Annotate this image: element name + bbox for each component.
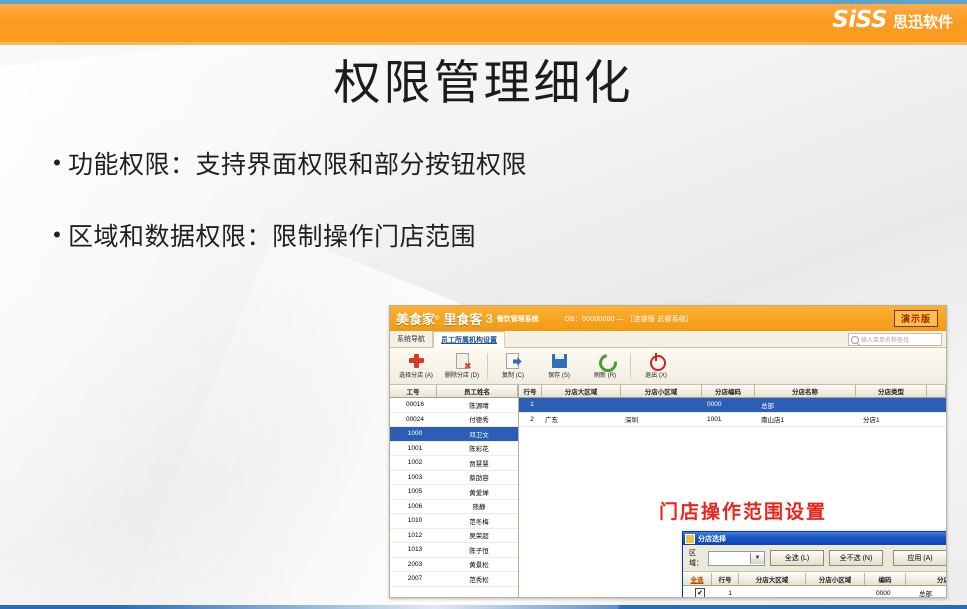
select-all-button[interactable]: 全选 (L) [770,550,824,566]
list-item: • 区域和数据权限：限制操作门店范围 [46,222,746,252]
brand-logo: SiSS 思迅软件 [832,7,953,33]
cell-checkbox[interactable]: ✔ [683,586,714,598]
column-header-big-area: 分店大区域 [739,573,806,585]
table-row[interactable]: 2广东深圳1001南山店1分店1 [519,413,946,428]
refresh-button[interactable]: 刷新 (R) [582,349,628,383]
employee-grid-header: 工号 员工姓名 [390,385,518,398]
cell-employee-name: 范冬梅 [438,514,518,528]
cell-small-area [812,586,873,598]
table-row[interactable]: 10000总部 [519,398,946,413]
column-header-spacer [927,385,946,397]
cell-code: 0000 [873,586,916,598]
table-row[interactable]: 1010范冬梅 [390,514,518,529]
delete-branch-button[interactable]: 删除分店 (D) [439,349,485,383]
page-title: 权限管理细化 [0,44,967,113]
toolbar-divider [630,353,631,379]
column-header-branch-name: 分店名称 [755,385,856,397]
table-row[interactable]: 1001陈彩花 [390,442,518,457]
cell-employee-name: 贾慧慧 [438,456,518,470]
cell-employee-id: 1005 [390,485,438,499]
cell-branch-name: 总部 [759,398,861,412]
cell-employee-name: 吴荣超 [438,529,518,543]
cell-employee-name: 陈源晴 [438,398,518,412]
cell-employee-name: 黄爱婵 [438,485,518,499]
bullet-list: • 功能权限：支持界面权限和部分按钮权限 • 区域和数据权限：限制操作门店范围 [46,150,746,294]
column-header-small-area: 分店小区域 [806,573,865,585]
slide-canvas: SiSS 思迅软件 权限管理细化 • 功能权限：支持界面权限和部分按钮权限 • … [0,0,967,609]
list-item: • 功能权限：支持界面权限和部分按钮权限 [46,150,746,180]
table-row[interactable]: 2007范秀松 [390,572,518,587]
select-none-button[interactable]: 全不选 (N) [829,550,883,566]
cell-branch-name: 总部 [916,586,946,598]
chevron-down-icon: ▼ [750,553,764,564]
cell-row-no: 1 [714,586,743,598]
cell-row-no: 2 [519,413,543,427]
table-row[interactable]: 1012吴荣超 [390,529,518,544]
row-checkbox[interactable]: ✔ [695,588,705,598]
branch-list-pane: 行号 分店大区域 分店小区域 分店编码 分店名称 分店类型 10000总部2广东… [519,385,946,598]
app-tab-bar: 系统导航 员工所属机构设置 输入菜单名称查找 [390,331,946,348]
app-toolbar: 选择分店 (A) 删除分店 (D) 复制 (C) 保存 (S) 刷新 (R) [390,348,946,385]
dialog-title-text: 分店选择 [698,534,726,544]
demo-version-badge: 演示版 [894,310,938,327]
employee-grid-rows: 00016陈源晴00024付德秀☞1000邓卫文1001陈彩花1002贾慧慧10… [390,398,518,587]
cell-employee-id: 1006 [390,500,438,514]
app-logo-main: 美食家 [396,309,435,328]
column-header-big-area: 分店大区域 [542,385,621,397]
cell-employee-id: 2003 [390,558,438,572]
cell-employee-name: 陈彩花 [438,442,518,456]
app-logo-secondary: 里食客 [443,309,482,328]
cell-branch-code: 1001 [705,413,759,427]
column-header-branch-type: 分店类型 [856,385,927,397]
cell-big-area [743,586,812,598]
brand-latin-text: SiSS [832,7,887,33]
cell-employee-id: 2007 [390,572,438,586]
bullet-marker-icon: • [46,222,68,248]
copy-button[interactable]: 复制 (C) [490,349,536,383]
brand-chinese-text: 思迅软件 [893,11,953,32]
refresh-icon [597,353,614,369]
row-pointer-icon: ☞ [391,429,402,439]
dialog-grid-header: 全选 行号 分店大区域 分店小区域 编码 分店名称 分店类型 [683,573,946,586]
bottom-accent-strip [0,605,967,609]
embedded-app-screenshot: 美食家 ® 里食客 3 餐饮管理系统 DB：00000000 — ［连锁版 总部… [389,305,947,598]
cell-row-no: 1 [519,398,543,412]
bullet-marker-icon: • [46,150,68,176]
cell-spacer [933,398,946,412]
dialog-toolbar: 区域： ▼ 全选 (L) 全不选 (N) 应用 (A) 确定 (O) 取消 (E… [683,545,946,572]
column-header-employee-name: 员工姓名 [437,385,518,397]
slide-header-bar [0,4,967,42]
dialog-title-bar: 分店选择 ✕ [683,532,946,545]
table-row[interactable]: 00016陈源晴 [390,398,518,413]
select-branch-button[interactable]: 选择分店 (A) [393,349,439,383]
cell-employee-id: 00016 [390,398,438,412]
table-row[interactable]: 1005黄爱婵 [390,485,518,500]
cell-employee-name: 邓卫文 [438,427,518,441]
bullet-text: 区域和数据权限：限制操作门店范围 [68,222,476,252]
app-db-info: DB：00000000 — ［连锁版 总部系统］ [565,314,694,324]
table-row[interactable]: 2003黄景松 [390,558,518,573]
cell-branch-type [861,398,933,412]
cell-employee-id: 1013 [390,543,438,557]
cell-spacer [933,413,946,427]
app-title-bar: 美食家 ® 里食客 3 餐饮管理系统 DB：00000000 — ［连锁版 总部… [390,306,946,331]
cell-employee-id: 1002 [390,456,438,470]
table-row[interactable]: ✔10000总部 [683,586,946,598]
table-row[interactable]: 1002贾慧慧 [390,456,518,471]
search-placeholder: 输入菜单名称查找 [861,335,909,344]
exit-icon [648,353,665,369]
column-header-row-no: 行号 [712,573,739,585]
copy-icon [505,353,522,369]
cell-employee-id: 1001 [390,442,438,456]
toolbar-label: 删除分店 (D) [445,370,479,379]
exit-button[interactable]: 退出 (X) [633,349,679,383]
cell-employee-name: 陈子恒 [438,543,518,557]
dialog-app-icon [685,534,695,544]
cell-small-area: 深圳 [623,413,705,427]
cell-employee-name: 黄景松 [438,558,518,572]
bullet-text: 功能权限：支持界面权限和部分按钮权限 [68,150,527,180]
tab-system-navigation[interactable]: 系统导航 [390,331,433,347]
column-header-employee-id: 工号 [390,385,437,397]
employee-list-pane: 工号 员工姓名 00016陈源晴00024付德秀☞1000邓卫文1001陈彩花1… [390,385,519,598]
cell-employee-name: 付德秀 [438,413,518,427]
annotation-text: 门店操作范围设置 [659,497,827,524]
cell-big-area: 广东 [543,413,623,427]
header-underline [0,42,967,45]
table-row[interactable]: 1013陈子恒 [390,543,518,558]
app-body: 工号 员工姓名 00016陈源晴00024付德秀☞1000邓卫文1001陈彩花1… [390,385,946,598]
delete-branch-icon [454,353,471,369]
branch-grid-rows: 10000总部2广东深圳1001南山店1分店1 [519,398,946,427]
cell-small-area [623,398,705,412]
toolbar-divider [487,353,488,379]
tab-employee-org-settings[interactable]: 员工所属机构设置 [433,331,505,348]
cell-employee-id: 00024 [390,413,438,427]
dialog-branch-grid: 全选 行号 分店大区域 分店小区域 编码 分店名称 分店类型 ✔10000总部2… [683,572,946,598]
column-header-row-no: 行号 [519,385,542,397]
toolbar-label: 保存 (S) [548,370,570,379]
table-row[interactable]: 1003蔡劭容 [390,471,518,486]
save-button[interactable]: 保存 (S) [536,349,582,383]
column-header-small-area: 分店小区域 [621,385,702,397]
app-logo-registered-icon: ® [435,316,439,322]
column-header-select-all[interactable]: 全选 [683,573,712,585]
cell-employee-name: 蔡劭容 [438,471,518,485]
search-icon [851,336,859,344]
cell-big-area [543,398,623,412]
menu-search-box[interactable]: 输入菜单名称查找 [848,333,942,346]
dialog-grid-rows: ✔10000总部2湖南长沙0201长沙店分店13湖北武汉0301武汉店分店1✔4… [683,586,946,598]
column-header-branch-code: 分店编码 [702,385,755,397]
branch-selection-dialog: 分店选择 ✕ 区域： ▼ 全选 (L) 全不选 (N) 应用 (A) 确定 [682,531,946,598]
table-row[interactable]: ☞1000邓卫文 [390,427,518,442]
toolbar-label: 退出 (X) [645,370,667,379]
cell-branch-type: 分店1 [861,413,933,427]
apply-button[interactable]: 应用 (A) [893,550,946,566]
table-row[interactable]: 00024付德秀 [390,413,518,428]
app-logo-subtitle: 餐饮管理系统 [497,314,539,324]
branch-grid-header: 行号 分店大区域 分店小区域 分店编码 分店名称 分店类型 [519,385,946,398]
column-header-code: 编码 [865,573,906,585]
add-branch-icon [408,353,425,369]
column-header-branch-name: 分店名称 [906,573,946,585]
area-select[interactable]: ▼ [708,551,765,566]
toolbar-label: 复制 (C) [502,370,524,379]
cell-branch-code: 0000 [705,398,759,412]
save-icon [551,353,568,369]
cell-employee-id: 1012 [390,529,438,543]
cell-employee-id: 1003 [390,471,438,485]
cell-employee-name: 熊静 [438,500,518,514]
table-row[interactable]: 1006熊静 [390,500,518,515]
cell-employee-id: 1010 [390,514,438,528]
area-label: 区域： [689,548,703,568]
toolbar-label: 选择分店 (A) [399,370,433,379]
cell-branch-name: 南山店1 [759,413,861,427]
app-logo-version: 3 [485,311,492,326]
cell-employee-name: 范秀松 [438,572,518,586]
